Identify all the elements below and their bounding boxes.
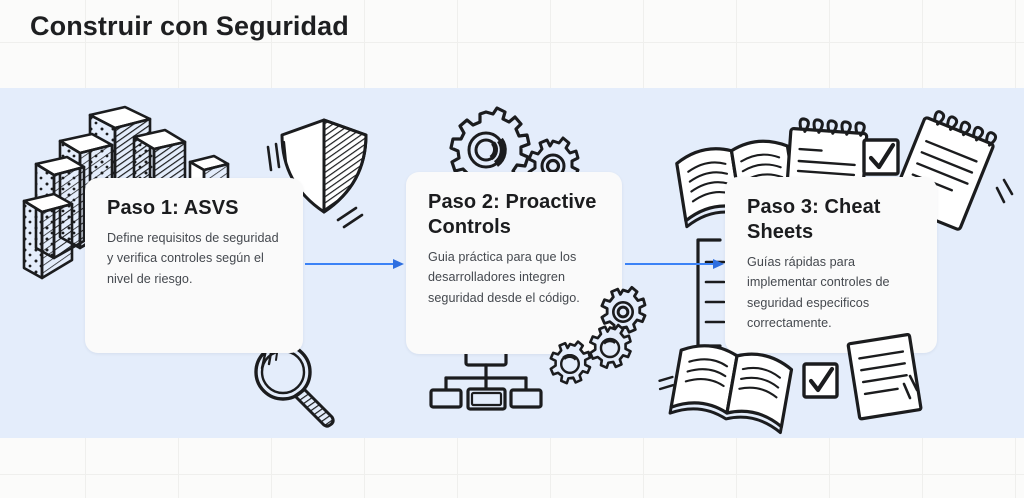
step-card-1-body: Define requisitos de seguridad y verific… — [107, 228, 281, 289]
arrow-step1-step2 — [305, 258, 405, 270]
infographic-page: Construir con Seguridad — [0, 0, 1024, 498]
step-card-3-body: Guías rápidas para implementar controles… — [747, 252, 915, 334]
step-card-1-title: Paso 1: ASVS — [107, 196, 281, 221]
step-card-1[interactable]: Paso 1: ASVS Define requisitos de seguri… — [85, 178, 303, 353]
step-card-2-body: Guia práctica para que los desarrollador… — [428, 247, 600, 308]
arrow-step2-step3 — [625, 258, 725, 270]
step-card-3[interactable]: Paso 3: Cheat Sheets Guías rápidas para … — [725, 177, 937, 353]
step-card-2-title: Paso 2: Proactive Controls — [428, 190, 600, 240]
step-card-3-title: Paso 3: Cheat Sheets — [747, 195, 915, 245]
page-title: Construir con Seguridad — [30, 9, 349, 44]
step-card-2[interactable]: Paso 2: Proactive Controls Guia práctica… — [406, 172, 622, 354]
